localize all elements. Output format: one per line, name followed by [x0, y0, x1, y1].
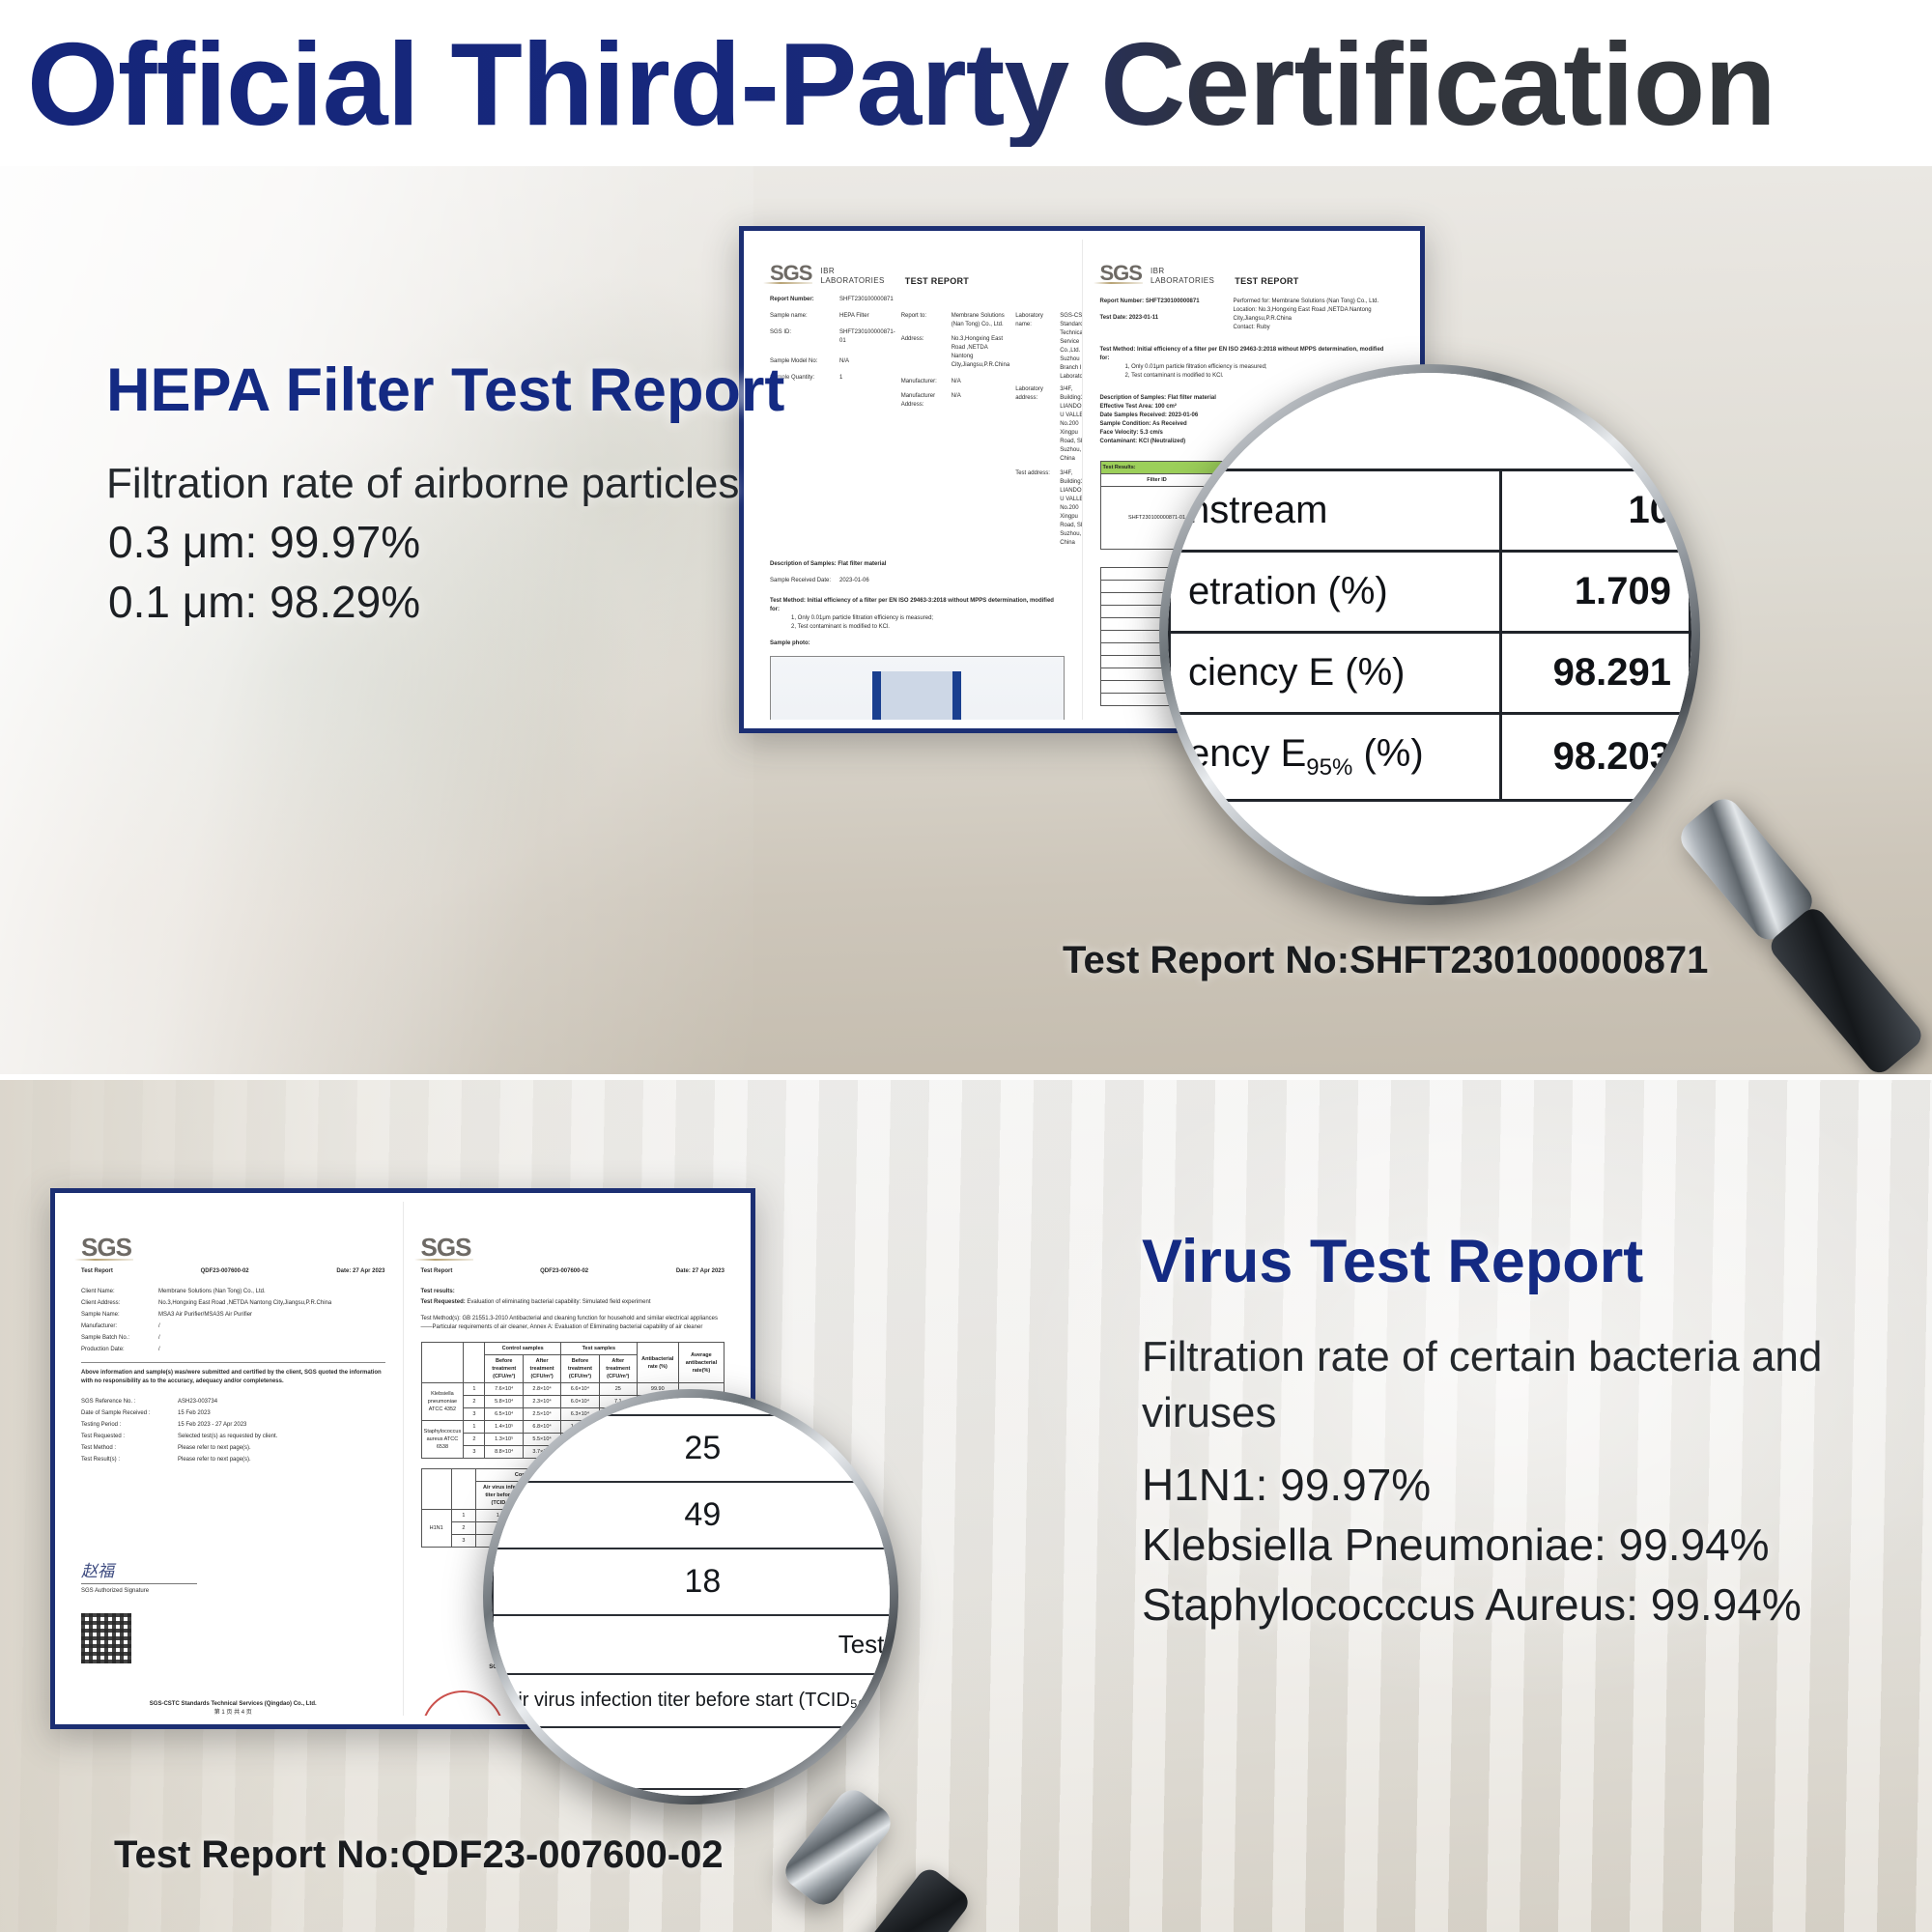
field-val: HEPA Filter — [839, 312, 895, 321]
sgs-note: Above information and sample(s) was/were… — [81, 1369, 385, 1386]
doc-type-label: TEST REPORT — [905, 276, 969, 286]
ref-key: Test Method : — [81, 1444, 170, 1453]
virus-stats: H1N1: 99.97% Klebsiella Pneumoniae: 99.9… — [1142, 1455, 1915, 1634]
location: Location: No.3,Hongxing East Road ,NETDA… — [1234, 306, 1394, 324]
bacteria-cell: 2 — [464, 1434, 485, 1446]
virus-cell: H1N1 — [421, 1510, 451, 1548]
field-key: Laboratory address: — [1015, 385, 1052, 464]
ref-val: 15 Feb 2023 - 27 Apr 2023 — [178, 1421, 385, 1430]
sgs-logo: SGS — [81, 1233, 385, 1263]
field-val: N/A — [952, 392, 1009, 410]
virus-cell: 3 — [451, 1535, 475, 1548]
virus-cell: 1 — [451, 1510, 475, 1522]
signature-caption: SGS Authorized Signature — [81, 1587, 385, 1596]
field-val: 3/4F, Building1, LIANDONG U VALLEY, No.2… — [1060, 385, 1081, 464]
bacteria-cell: Klebsiella pneumoniae ATCC 4352 — [421, 1383, 464, 1421]
field-val: MSA3 Air Purifier/MSA3S Air Purifier — [158, 1311, 385, 1320]
mag-row-label-sub: 95% — [1306, 754, 1352, 781]
doc-date: Date: 27 Apr 2023 — [336, 1267, 384, 1276]
hepa-stat-0: 0.3 μm: 99.97% — [108, 512, 784, 572]
bacteria-cell: Staphylococcus aureus ATCC 6538 — [421, 1421, 464, 1459]
qr-code — [81, 1613, 131, 1663]
ref-val: Please refer to next page(s). — [178, 1444, 385, 1453]
bacteria-cell: 3 — [464, 1408, 485, 1421]
doc-number: QDF23-007600-02 — [540, 1267, 588, 1276]
test-date-value: 2023-01-11 — [1129, 315, 1158, 321]
sgs-wordmark: SGS — [770, 261, 811, 286]
mag-col-header: Air virus infection titer before start (… — [493, 1674, 898, 1727]
method-text: Test Method(s): GB 21551.3-2010 Antibact… — [421, 1315, 725, 1332]
ref-val: ASH23-003734 — [178, 1398, 385, 1406]
bacteria-cell: 1 — [464, 1421, 485, 1434]
virus-text-block: Virus Test Report — [1142, 1227, 1915, 1296]
field-val: / — [158, 1334, 385, 1343]
field-key: Client Address: — [81, 1299, 151, 1308]
mag-cell: 25 — [493, 1415, 898, 1482]
ref-key: Testing Period : — [81, 1421, 170, 1430]
mag-row-value: 1.709 — [1501, 551, 1690, 632]
doc-type-label: Test Report — [81, 1267, 113, 1276]
field-key: Production Date: — [81, 1346, 151, 1354]
col-header: After treatment (CFU/m³) — [599, 1355, 637, 1383]
sgs-logo: SGS IBR LABORATORIES TEST REPORT — [1100, 261, 1395, 286]
mag-row-value: 10 — [1501, 469, 1690, 551]
magnified-antibacterial-table: 99.97 99.94 99.94 25 99.96 99.94 49 9 — [492, 1389, 898, 1804]
sgs-wordmark: SGS — [1100, 261, 1142, 286]
panel-virus-test: SGS Test Report QDF23-007600-02 Date: 27… — [0, 1080, 1932, 1932]
mag-cell — [493, 1727, 898, 1789]
mag-cell: 18 — [493, 1548, 898, 1615]
report-number-label: Report Number: — [1100, 298, 1145, 304]
field-key: Report to: — [901, 312, 944, 329]
sample-photo-caption: Sample photo: — [770, 639, 1065, 648]
report-number-value: SHFT230100000871 — [1146, 298, 1200, 304]
group-header: Control samples — [485, 1343, 561, 1355]
col-header: Before treatment (CFU/m³) — [485, 1355, 524, 1383]
bacteria-cell: 1 — [464, 1383, 485, 1396]
mag-row-label: ciency E (%) — [1170, 632, 1501, 713]
field-key: SGS ID: — [770, 328, 832, 346]
field-val: No.3,Hongxing East Road ,NETDA Nantong C… — [952, 335, 1009, 370]
mag-row-value: 98.291 — [1501, 632, 1690, 713]
requested-value: Evaluation of eliminating bacterial capa… — [467, 1299, 650, 1305]
sgs-logo: SGS — [421, 1233, 725, 1263]
col-header: Average antibacterial rate(%) — [678, 1343, 724, 1383]
bacteria-cell: 2.8×10⁴ — [524, 1383, 561, 1396]
method-note-1: 2, Test contaminant is modified to KCl. — [791, 623, 1065, 632]
field-val: No.3,Hongxing East Road ,NETDA Nantong C… — [158, 1299, 385, 1308]
method-note-0: 1, Only 0.01μm particle filtration effic… — [791, 614, 1065, 623]
col-header: Antibacterial rate (%) — [637, 1343, 678, 1383]
field-key: Manufacturer: — [901, 378, 944, 386]
results-label: Test results: — [421, 1288, 725, 1296]
performed-for: Performed for: Membrane Solutions (Nan T… — [1234, 298, 1394, 306]
sgs-wordmark: SGS — [81, 1233, 131, 1263]
bacteria-cell: 6.6×10⁴ — [561, 1383, 600, 1396]
hepa-heading: HEPA Filter Test Report — [106, 355, 869, 425]
mag-cell: 49 — [493, 1482, 898, 1548]
bacteria-cell: 25 — [599, 1383, 637, 1396]
hepa-stat-1: 0.1 μm: 98.29% — [108, 572, 784, 632]
panel-hepa-filter: HEPA Filter Test Report Filtration rate … — [0, 166, 1932, 1074]
sgs-sub-line2: LABORATORIES — [820, 276, 884, 285]
ref-val: Please refer to next page(s). — [178, 1456, 385, 1464]
magnifier-lens: nstream 10 etration (%) 1.709 ciency E (… — [1159, 364, 1700, 905]
sample-photo-image — [770, 656, 1065, 720]
virus-doc-page-1: SGS Test Report QDF23-007600-02 Date: 27… — [64, 1202, 403, 1716]
virus-stat-0: H1N1: 99.97% — [1142, 1455, 1915, 1515]
field-key: Address: — [901, 335, 944, 370]
doc-date: Date: 27 Apr 2023 — [676, 1267, 724, 1276]
field-key: Test address: — [1015, 469, 1052, 548]
report-number-value: SHFT230100000871 — [839, 296, 1065, 304]
field-key: Sample name: — [770, 312, 832, 321]
method-text: Test Method: Initial efficiency of a fil… — [1100, 346, 1395, 363]
field-key: Manufacturer Address: — [901, 392, 944, 410]
requested-label: Test Requested: — [421, 1299, 466, 1305]
field-val: / — [158, 1322, 385, 1331]
hepa-subheading-wrap: Filtration rate of airborne particles — [106, 456, 879, 512]
hepa-text-block: HEPA Filter Test Report — [106, 355, 869, 425]
hepa-subheading: Filtration rate of airborne particles — [106, 456, 879, 512]
doc-type-label: Test Report — [421, 1267, 453, 1276]
mag-group-header: Test samples — [493, 1615, 898, 1674]
field-key: Laboratory name: — [1015, 312, 1052, 382]
group-header: Test samples — [561, 1343, 638, 1355]
mag-row-value: 98.203 — [1501, 713, 1690, 800]
doc-number: QDF23-007600-02 — [201, 1267, 249, 1276]
field-key: Manufacturer: — [81, 1322, 151, 1331]
field-val: SHFT230100000871-01 — [839, 328, 895, 346]
sgs-sub-line2: LABORATORIES — [1151, 276, 1214, 285]
virus-cell: 2 — [451, 1522, 475, 1535]
virus-report-number: Test Report No:QDF23-007600-02 — [114, 1833, 724, 1877]
report-number-label: Report Number: — [770, 296, 832, 304]
virus-subheading: Filtration rate of certain bacteria and … — [1142, 1329, 1905, 1441]
ref-val: 15 Feb 2023 — [178, 1409, 385, 1418]
field-val: / — [158, 1346, 385, 1354]
mag-row-label-tail: (%) — [1352, 732, 1423, 775]
virus-subheading-wrap: Filtration rate of certain bacteria and … — [1142, 1329, 1905, 1441]
method-text: Test Method: Initial efficiency of a fil… — [770, 597, 1065, 614]
sgs-sub-line1: IBR — [1151, 267, 1165, 275]
ref-key: SGS Reference No. : — [81, 1398, 170, 1406]
hepa-report-number: Test Report No:SHFT230100000871 — [1063, 939, 1708, 982]
ref-val: Selected test(s) as requested by client. — [178, 1433, 385, 1441]
bacteria-cell: 7.6×10⁴ — [485, 1383, 524, 1396]
field-key: Sample Batch No.: — [81, 1334, 151, 1343]
page-title: Official Third-Party Certification — [27, 21, 1920, 147]
hepa-stats: 0.3 μm: 99.97% 0.1 μm: 98.29% — [108, 512, 784, 632]
panel-divider — [0, 1074, 1932, 1080]
field-key: Sample Name: — [81, 1311, 151, 1320]
field-val: 2023-01-06 — [839, 577, 1065, 585]
bacteria-cell: 3 — [464, 1446, 485, 1459]
page-header: Official Third-Party Certification — [0, 0, 1932, 166]
field-val: Flat filter material — [838, 561, 886, 567]
test-date-label: Test Date: — [1100, 315, 1128, 321]
field-val: N/A — [952, 378, 1009, 386]
mag-row-label: etration (%) — [1170, 551, 1501, 632]
footer-org: SGS-CSTC Standards Technical Services (Q… — [81, 1700, 385, 1709]
field-key: Client Name: — [81, 1288, 151, 1296]
virus-stat-1: Klebsiella Pneumoniae: 99.94% — [1142, 1515, 1915, 1575]
doc-type-label: TEST REPORT — [1235, 276, 1298, 286]
mag-row-label: nstream — [1170, 469, 1501, 551]
bacteria-cell: 2 — [464, 1396, 485, 1408]
sgs-logo: SGS IBR LABORATORIES TEST REPORT — [770, 261, 1065, 286]
ref-key: Date of Sample Received : — [81, 1409, 170, 1418]
virus-stat-2: Staphylococccus Aureus: 99.94% — [1142, 1575, 1915, 1634]
method-note-0: 1, Only 0.01μm particle filtration effic… — [1125, 363, 1395, 372]
sgs-wordmark: SGS — [421, 1233, 471, 1263]
magnifier-lens: 99.97 99.94 99.94 25 99.96 99.94 49 9 — [483, 1389, 898, 1804]
mag-row-label: ency E — [1188, 732, 1306, 775]
field-val: Membrane Solutions (Nan Tong) Co., Ltd. — [158, 1288, 385, 1296]
field-val: Membrane Solutions (Nan Tong) Co., Ltd. — [952, 312, 1009, 329]
col-header: Before treatment (CFU/m³) — [561, 1355, 600, 1383]
field-val: 3/4F, Building1, LIANDONG U VALLEY, No.2… — [1060, 469, 1081, 548]
magnified-results-table: nstream 10 etration (%) 1.709 ciency E (… — [1168, 469, 1691, 802]
field-val: SGS-CSTC Standard Technical Service Co.,… — [1060, 312, 1081, 382]
ref-key: Test Requested : — [81, 1433, 170, 1441]
virus-heading: Virus Test Report — [1142, 1227, 1915, 1296]
sgs-sub-line1: IBR — [820, 267, 835, 275]
contact: Contact: Ruby — [1234, 324, 1394, 332]
ref-key: Test Result(s) : — [81, 1456, 170, 1464]
col-header: After treatment (CFU/m³) — [524, 1355, 561, 1383]
